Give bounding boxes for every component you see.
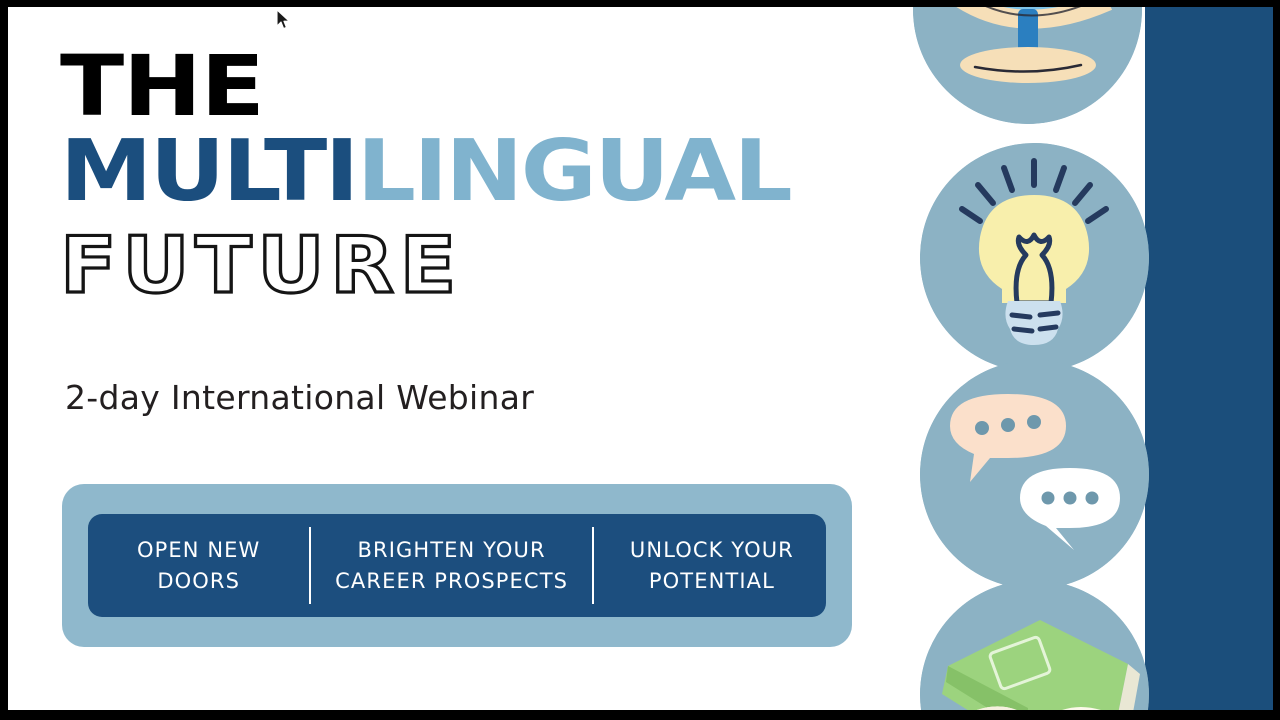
benefit-item-open-new-doors: OPEN NEW DOORS xyxy=(88,535,309,596)
headline-lingual-segment: LINGUAL xyxy=(357,121,790,221)
video-frame: THE MULTILINGUAL FUTURE 2-day Internatio… xyxy=(0,0,1280,720)
benefit-item-career-prospects: BRIGHTEN YOUR CAREER PROSPECTS xyxy=(311,535,591,596)
headline-multi-segment: MULTI xyxy=(60,121,357,221)
benefits-banner-inner: OPEN NEW DOORS BRIGHTEN YOUR CAREER PROS… xyxy=(88,514,826,617)
presentation-slide: THE MULTILINGUAL FUTURE 2-day Internatio… xyxy=(8,7,1273,710)
slide-subtitle: 2-day International Webinar xyxy=(65,378,534,417)
headline-line-future: FUTURE xyxy=(60,227,978,305)
speech-bubbles-icon xyxy=(920,360,1149,589)
books-icon xyxy=(920,580,1149,710)
headline-line-multilingual: MULTILINGUAL xyxy=(60,129,1060,214)
benefits-banner: OPEN NEW DOORS BRIGHTEN YOUR CAREER PROS… xyxy=(62,484,852,647)
headline-block: THE MULTILINGUAL FUTURE xyxy=(60,45,880,303)
navy-side-panel xyxy=(1145,7,1273,710)
headline-line-the: THE xyxy=(60,45,978,127)
benefit-item-unlock-potential: UNLOCK YOUR POTENTIAL xyxy=(594,535,830,596)
